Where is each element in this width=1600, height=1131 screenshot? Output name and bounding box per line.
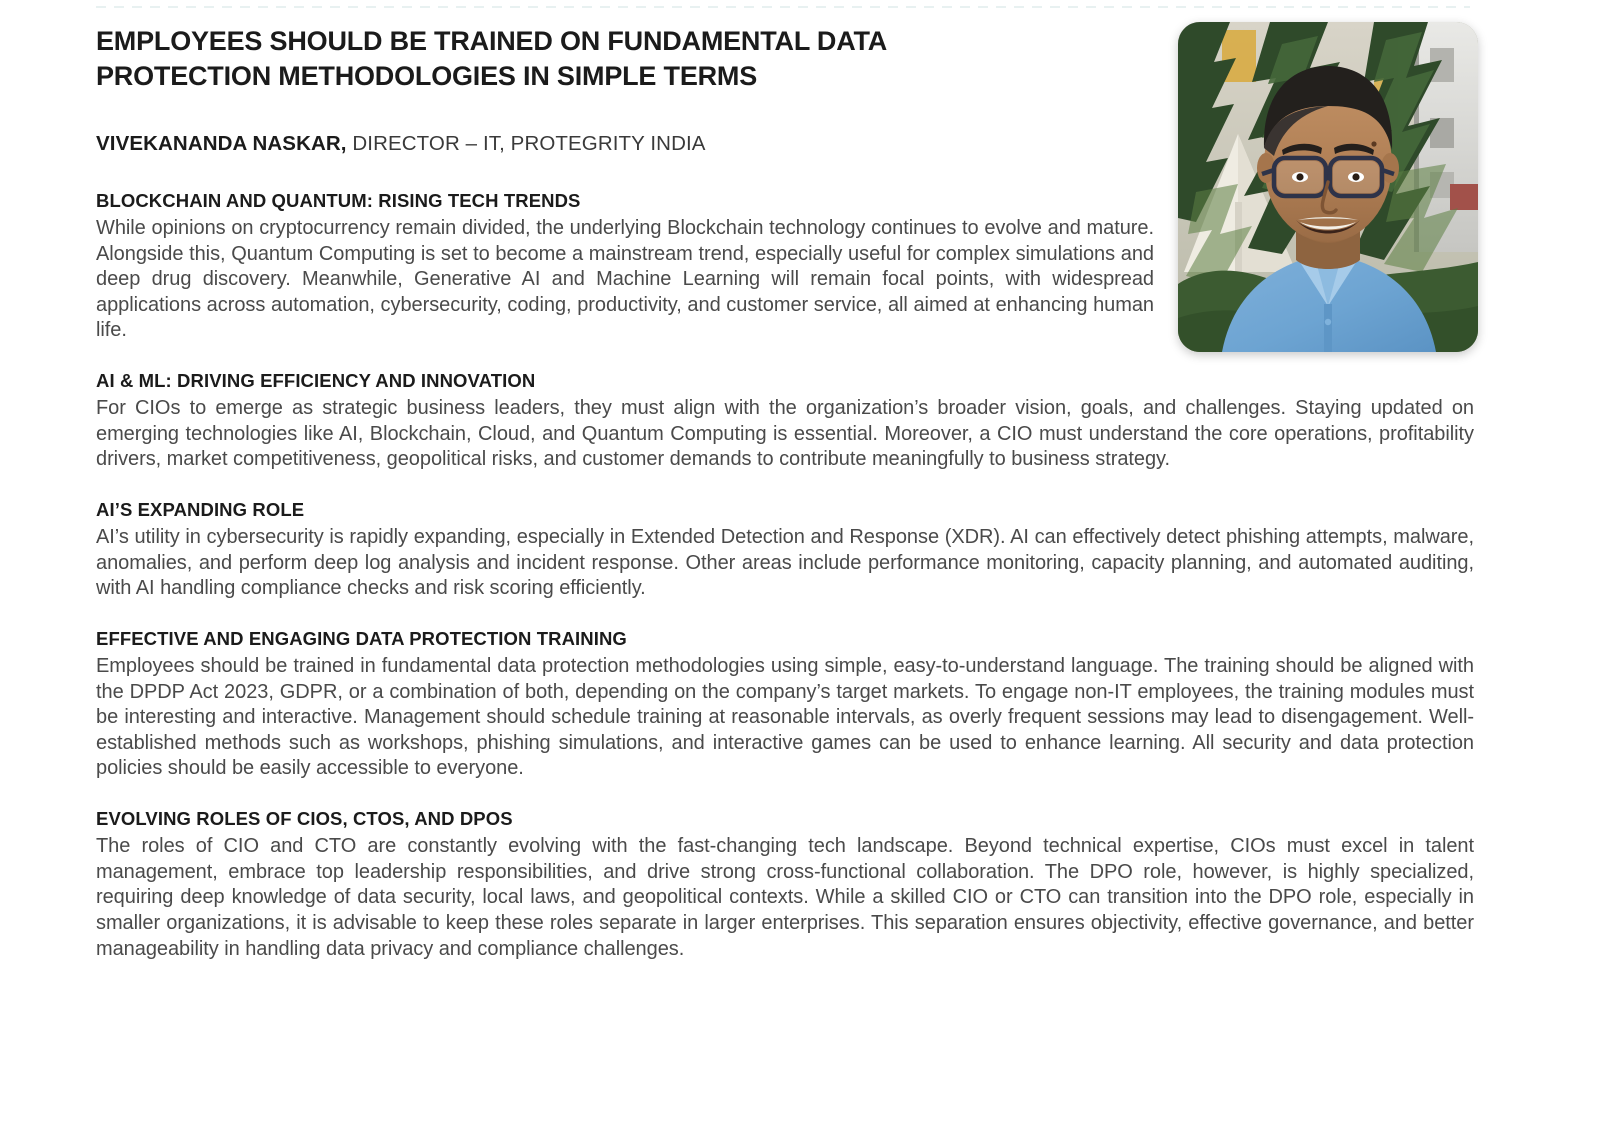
section-heading: AI’S EXPANDING ROLE (96, 499, 1474, 521)
page-title: EMPLOYEES SHOULD BE TRAINED ON FUNDAMENT… (96, 24, 1056, 93)
byline: VIVEKANANDA NASKAR, DIRECTOR – IT, PROTE… (96, 93, 1474, 158)
section-heading: BLOCKCHAIN AND QUANTUM: RISING TECH TREN… (96, 190, 1474, 212)
article-content: EMPLOYEES SHOULD BE TRAINED ON FUNDAMENT… (96, 24, 1474, 962)
author-role: DIRECTOR – IT, PROTEGRITY INDIA (347, 132, 706, 155)
section-ai-ml-efficiency: AI & ML: DRIVING EFFICIENCY AND INNOVATI… (96, 370, 1474, 473)
section-body: The roles of CIO and CTO are constantly … (96, 834, 1474, 962)
section-heading: EVOLVING ROLES OF CIOS, CTOS, AND DPOS (96, 808, 1474, 830)
section-body: While opinions on cryptocurrency remain … (96, 216, 1154, 344)
section-evolving-roles: EVOLVING ROLES OF CIOS, CTOS, AND DPOS T… (96, 808, 1474, 962)
section-heading: AI & ML: DRIVING EFFICIENCY AND INNOVATI… (96, 370, 1474, 392)
section-heading: EFFECTIVE AND ENGAGING DATA PROTECTION T… (96, 628, 1474, 650)
section-body: For CIOs to emerge as strategic business… (96, 396, 1474, 473)
section-blockchain-quantum: BLOCKCHAIN AND QUANTUM: RISING TECH TREN… (96, 190, 1474, 344)
section-ai-expanding-role: AI’S EXPANDING ROLE AI’s utility in cybe… (96, 499, 1474, 602)
section-data-protection-training: EFFECTIVE AND ENGAGING DATA PROTECTION T… (96, 628, 1474, 782)
section-body: Employees should be trained in fundament… (96, 654, 1474, 782)
top-dashed-rule (96, 6, 1470, 8)
article-page: EMPLOYEES SHOULD BE TRAINED ON FUNDAMENT… (0, 0, 1600, 1131)
section-body: AI’s utility in cybersecurity is rapidly… (96, 525, 1474, 602)
author-name: VIVEKANANDA NASKAR, (96, 132, 347, 155)
